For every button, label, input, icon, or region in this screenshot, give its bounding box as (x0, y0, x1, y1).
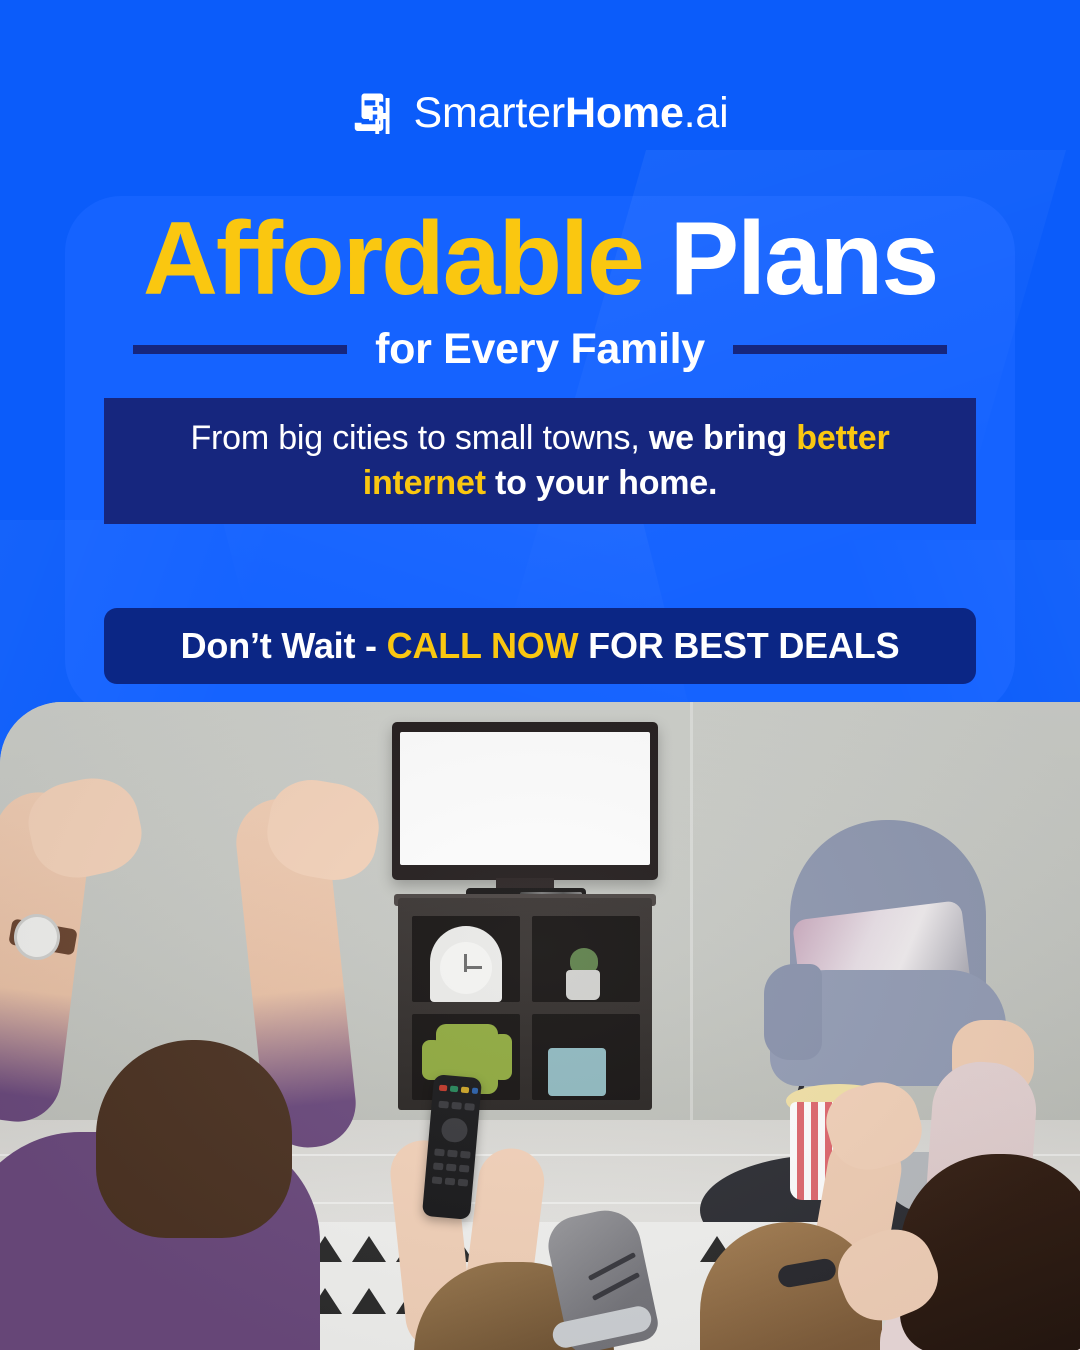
remote-key (446, 1164, 457, 1172)
remote-key (445, 1178, 456, 1186)
father-head (96, 1040, 292, 1238)
remote-key (472, 1088, 479, 1095)
remote-key (438, 1101, 449, 1109)
remote-key (459, 1165, 470, 1173)
flat-screen-tv (392, 722, 658, 880)
armchair-arm (764, 964, 822, 1060)
cta-text: Don’t Wait - CALL NOW FOR BEST DEALS (181, 628, 900, 664)
divider-rule-right (733, 345, 947, 354)
cactus-arm (492, 1034, 512, 1080)
smarterhome-sh-monogram-icon (351, 89, 399, 137)
description-text: From big cities to small towns, we bring… (130, 416, 950, 506)
remote-key (432, 1176, 443, 1184)
brand-logo[interactable]: SmarterHome.ai (0, 82, 1080, 144)
brand-name-bold: Home (565, 92, 684, 135)
description-box: From big cities to small towns, we bring… (104, 398, 976, 524)
remote-dpad (440, 1117, 468, 1143)
storage-box (548, 1048, 606, 1096)
cta-highlight: CALL NOW (387, 625, 579, 666)
remote-key (450, 1086, 458, 1093)
cta-suffix: FOR BEST DEALS (578, 625, 899, 666)
description-part1: From big cities to small towns, (190, 419, 648, 457)
plant-pot (566, 970, 600, 1000)
remote-key (464, 1103, 475, 1111)
subheadline: for Every Family (375, 328, 705, 371)
brand-wordmark: SmarterHome.ai (413, 92, 728, 135)
remote-key (458, 1179, 469, 1187)
brand-name-suffix: .ai (684, 92, 729, 135)
rug-chevron (352, 1288, 386, 1314)
remote-key (461, 1087, 469, 1094)
promo-poster: SmarterHome.ai Affordable Plans for Ever… (0, 0, 1080, 1350)
cactus-arm (422, 1040, 442, 1080)
cta-prefix: Don’t Wait - (181, 625, 387, 666)
description-bold2: to your home. (486, 464, 717, 502)
tv-screen (400, 732, 650, 865)
headline-rest: Plans (643, 201, 937, 317)
brand-name-light: Smarter (413, 92, 565, 135)
remote-key (460, 1151, 471, 1159)
call-now-cta-banner[interactable]: Don’t Wait - CALL NOW FOR BEST DEALS (104, 608, 976, 684)
wall-seam (690, 702, 693, 1132)
page-title: Affordable Plans (0, 205, 1080, 314)
remote-key (451, 1102, 462, 1110)
remote-key (439, 1085, 447, 1092)
family-watching-tv-photo (0, 702, 1080, 1350)
headline-highlight: Affordable (143, 201, 643, 317)
remote-key (434, 1149, 445, 1157)
subheadline-row: for Every Family (0, 318, 1080, 380)
divider-rule-left (133, 345, 347, 354)
remote-key (447, 1150, 458, 1158)
remote-key (433, 1162, 444, 1170)
rug-chevron (352, 1236, 386, 1262)
clock-hand (464, 966, 482, 969)
description-bold1: we bring (649, 419, 796, 457)
clock-hand (464, 954, 467, 972)
